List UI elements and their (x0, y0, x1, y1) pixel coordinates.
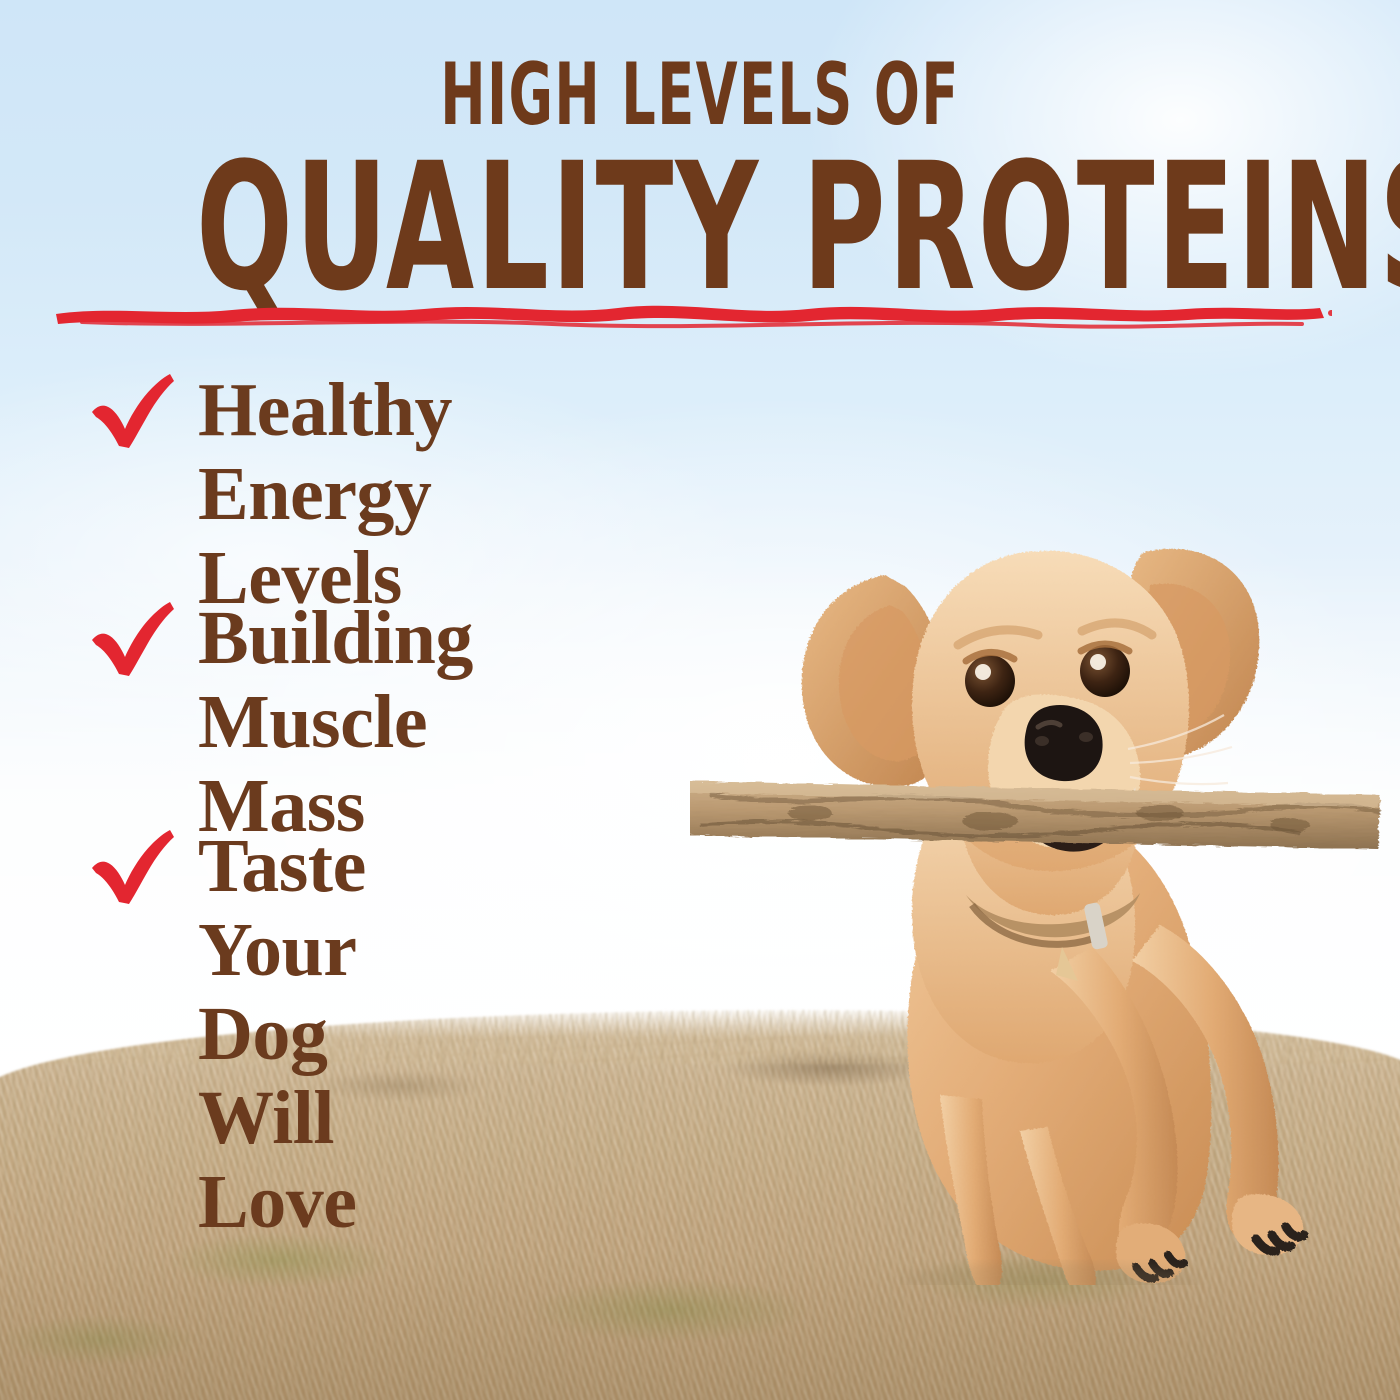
list-item-label: Building Muscle Mass (198, 596, 473, 848)
promo-poster: HIGH LEVELS OF QUALITY PROTEINS Healthy … (0, 0, 1400, 1400)
list-item-label: Taste Your Dog Will Love (198, 824, 366, 1244)
list-item-label: Healthy Energy Levels (198, 368, 452, 620)
red-checkmark-icon (88, 372, 176, 448)
dog-running-with-stick-photo (690, 495, 1390, 1285)
red-checkmark-icon (88, 600, 176, 676)
red-brush-underline-icon (52, 294, 1332, 332)
page-title: QUALITY PROTEINS (196, 140, 1204, 316)
red-checkmark-icon (88, 828, 176, 904)
